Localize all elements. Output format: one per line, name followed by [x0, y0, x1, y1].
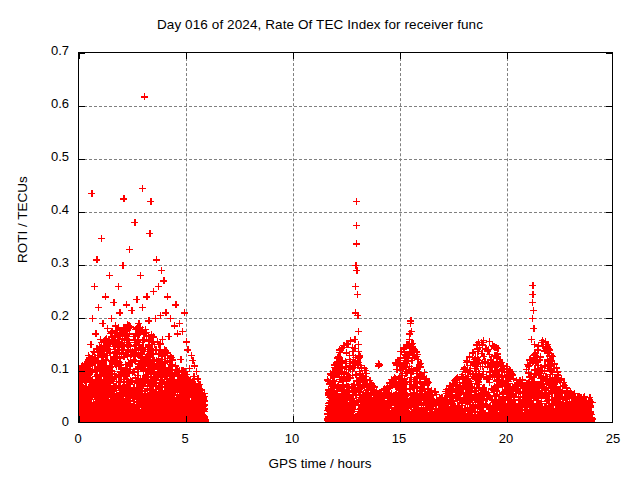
x-tick-mark — [79, 53, 80, 59]
scatter-point — [344, 383, 351, 390]
scatter-point — [100, 415, 107, 422]
scatter-point — [138, 357, 145, 364]
scatter-point — [474, 375, 481, 382]
x-tick-label: 5 — [181, 431, 188, 446]
scatter-point — [146, 230, 153, 237]
scatter-point — [118, 340, 125, 347]
scatter-point — [193, 384, 200, 391]
scatter-point — [460, 366, 467, 373]
scatter-point — [166, 386, 173, 393]
scatter-point — [100, 388, 107, 395]
scatter-point — [406, 336, 413, 343]
scatter-point — [179, 328, 186, 335]
y-tick-mark — [79, 371, 85, 372]
scatter-point — [349, 419, 356, 424]
scatter-point — [375, 360, 382, 367]
scatter-point — [510, 392, 517, 399]
scatter-point — [118, 350, 125, 357]
y-axis-label: ROTI / TECUs — [15, 150, 30, 290]
scatter-point — [184, 375, 191, 382]
scatter-point — [491, 402, 498, 409]
plot-area — [78, 52, 613, 423]
scatter-point — [374, 395, 381, 402]
scatter-point — [151, 418, 158, 423]
scatter-point — [160, 277, 167, 284]
scatter-point — [92, 420, 99, 423]
scatter-point — [335, 415, 342, 422]
scatter-point — [472, 396, 479, 403]
scatter-point — [330, 377, 337, 384]
scatter-point — [115, 283, 122, 290]
y-tick-mark — [606, 159, 612, 160]
scatter-point — [130, 392, 137, 399]
scatter-point — [486, 338, 493, 345]
scatter-point — [476, 418, 483, 423]
scatter-point — [131, 339, 138, 346]
scatter-point — [163, 349, 170, 356]
scatter-point — [365, 404, 372, 411]
y-tick-label: 0 — [0, 414, 69, 429]
scatter-point — [542, 415, 549, 422]
scatter-point — [186, 384, 193, 391]
scatter-point — [458, 399, 465, 406]
scatter-point — [108, 377, 115, 384]
scatter-point — [563, 401, 570, 408]
scatter-point — [385, 405, 392, 412]
scatter-point — [137, 324, 144, 331]
scatter-point — [396, 387, 403, 394]
scatter-point — [155, 369, 162, 376]
scatter-point — [139, 185, 146, 192]
scatter-point — [530, 325, 537, 332]
gridline-horizontal — [79, 106, 612, 107]
scatter-point — [145, 378, 152, 385]
scatter-point — [571, 399, 578, 406]
scatter-point — [146, 342, 153, 349]
scatter-point — [388, 393, 395, 400]
scatter-point — [352, 401, 359, 408]
scatter-point — [548, 380, 555, 387]
scatter-point — [538, 398, 545, 405]
scatter-point — [165, 333, 172, 340]
scatter-point — [354, 291, 361, 298]
scatter-point — [442, 398, 449, 405]
scatter-point — [110, 387, 117, 394]
scatter-point — [528, 406, 535, 413]
scatter-point — [453, 418, 460, 424]
x-tick-mark — [507, 53, 508, 59]
y-tick-mark — [79, 159, 85, 160]
scatter-point — [463, 357, 470, 364]
scatter-point — [529, 291, 536, 298]
scatter-point — [371, 419, 378, 423]
y-tick-label: 0.2 — [0, 308, 69, 323]
scatter-point — [89, 315, 96, 322]
scatter-point — [340, 344, 347, 351]
scatter-point — [453, 375, 460, 382]
scatter-point — [120, 324, 127, 331]
scatter-point — [128, 307, 135, 314]
y-tick-mark — [79, 106, 85, 107]
scatter-point — [100, 344, 107, 351]
scatter-point — [102, 293, 109, 300]
gridline-vertical — [293, 53, 294, 422]
y-tick-mark — [79, 318, 85, 319]
y-tick-label: 0.6 — [0, 96, 69, 111]
scatter-point — [354, 312, 361, 319]
scatter-point — [373, 405, 380, 412]
scatter-point — [353, 198, 360, 205]
scatter-point — [529, 282, 536, 289]
scatter-point — [517, 420, 524, 423]
scatter-point — [172, 301, 179, 308]
scatter-point — [410, 347, 417, 354]
scatter-point — [148, 331, 155, 338]
x-tick-mark — [79, 416, 80, 422]
scatter-point — [168, 402, 175, 409]
scatter-point — [177, 402, 184, 409]
scatter-point — [137, 272, 144, 279]
scatter-point — [535, 418, 542, 424]
scatter-point — [451, 403, 458, 410]
scatter-point — [541, 347, 548, 354]
gridline-horizontal — [79, 212, 612, 213]
scatter-point — [539, 380, 546, 387]
scatter-point — [147, 198, 154, 205]
y-tick-label: 0.7 — [0, 43, 69, 58]
scatter-point — [153, 256, 160, 263]
x-tick-label: 25 — [606, 431, 620, 446]
scatter-point — [407, 378, 414, 385]
x-tick-mark — [293, 416, 294, 422]
scatter-point — [355, 381, 362, 388]
scatter-point — [441, 417, 448, 423]
scatter-point — [183, 338, 190, 345]
y-tick-label: 0.4 — [0, 202, 69, 217]
scatter-point — [363, 398, 370, 405]
scatter-point — [106, 272, 113, 279]
scatter-point — [514, 381, 521, 388]
scatter-point — [119, 262, 126, 269]
x-tick-mark — [186, 416, 187, 422]
scatter-point — [148, 362, 155, 369]
scatter-point — [471, 358, 478, 365]
x-tick-mark — [507, 416, 508, 422]
scatter-point — [371, 383, 378, 390]
y-tick-mark — [606, 53, 612, 54]
y-tick-mark — [606, 212, 612, 213]
scatter-point — [131, 219, 138, 226]
scatter-point — [411, 420, 418, 423]
scatter-point — [171, 371, 178, 378]
scatter-point — [88, 190, 95, 197]
scatter-point — [503, 372, 510, 379]
scatter-point — [524, 396, 531, 403]
y-tick-mark — [606, 265, 612, 266]
scatter-point — [413, 364, 420, 371]
scatter-point — [352, 283, 359, 290]
scatter-point — [107, 396, 114, 403]
scatter-point — [455, 391, 462, 398]
scatter-point — [78, 374, 85, 381]
scatter-point — [120, 195, 127, 202]
scatter-point — [503, 363, 510, 370]
chart-title: Day 016 of 2024, Rate Of TEC Index for r… — [0, 17, 640, 32]
scatter-point — [157, 376, 164, 383]
scatter-point — [342, 358, 349, 365]
scatter-point — [530, 307, 537, 314]
scatter-point — [536, 388, 543, 395]
scatter-point — [427, 396, 434, 403]
scatter-point — [124, 399, 131, 406]
y-tick-mark — [79, 265, 85, 266]
scatter-point — [162, 369, 169, 376]
scatter-point — [568, 420, 575, 423]
scatter-point — [399, 365, 406, 372]
x-tick-label: 10 — [285, 431, 299, 446]
scatter-point — [484, 395, 491, 402]
scatter-point — [407, 396, 414, 403]
scatter-point — [139, 304, 146, 311]
scatter-point — [469, 349, 476, 356]
scatter-point — [530, 352, 537, 359]
scatter-point — [475, 368, 482, 375]
scatter-point — [160, 406, 167, 413]
scatter-point — [188, 393, 195, 400]
x-tick-label: 15 — [392, 431, 406, 446]
scatter-point — [126, 246, 133, 253]
scatter-point — [366, 377, 373, 384]
scatter-point — [335, 363, 342, 370]
scatter-point — [421, 419, 428, 423]
y-tick-mark — [79, 212, 85, 213]
scatter-point — [92, 358, 99, 365]
scatter-point — [197, 418, 204, 423]
scatter-point — [499, 418, 506, 423]
scatter-point — [493, 382, 500, 389]
scatter-point — [112, 416, 119, 423]
scatter-point — [141, 93, 148, 100]
scatter-point — [158, 267, 165, 274]
scatter-point — [140, 367, 147, 374]
scatter-point — [355, 387, 362, 394]
scatter-point — [546, 361, 553, 368]
scatter-point — [492, 416, 499, 423]
scatter-point — [492, 393, 499, 400]
scatter-point — [485, 346, 492, 353]
scatter-point — [351, 345, 358, 352]
scatter-point — [176, 320, 183, 327]
y-tick-label: 0.5 — [0, 149, 69, 164]
scatter-point — [107, 363, 114, 370]
scatter-point — [133, 402, 140, 409]
scatter-point — [467, 385, 474, 392]
scatter-point — [95, 304, 102, 311]
y-tick-mark — [606, 318, 612, 319]
y-tick-mark — [606, 106, 612, 107]
scatter-point — [409, 384, 416, 391]
x-tick-label: 0 — [74, 431, 81, 446]
scatter-point — [328, 417, 335, 423]
scatter-point — [164, 293, 171, 300]
x-tick-label: 20 — [499, 431, 513, 446]
scatter-point — [480, 353, 487, 360]
scatter-point — [340, 398, 347, 405]
scatter-point — [407, 317, 414, 324]
scatter-point — [532, 359, 539, 366]
scatter-point — [353, 240, 360, 247]
x-tick-mark — [400, 416, 401, 422]
scatter-point — [529, 299, 536, 306]
scatter-point — [356, 352, 363, 359]
scatter-point — [163, 392, 170, 399]
scatter-point — [133, 296, 140, 303]
scatter-point — [408, 328, 415, 335]
scatter-point — [100, 369, 107, 376]
x-axis-label: GPS time / hours — [0, 456, 640, 471]
scatter-point — [109, 339, 116, 346]
scatter-point — [142, 420, 149, 423]
scatter-point — [528, 376, 535, 383]
y-tick-label: 0.1 — [0, 361, 69, 376]
scatter-point — [480, 388, 487, 395]
scatter-point — [384, 414, 391, 421]
scatter-point — [400, 403, 407, 410]
scatter-point — [110, 299, 117, 306]
scatter-point — [108, 315, 115, 322]
scatter-point — [196, 396, 203, 403]
scatter-point — [548, 401, 555, 408]
y-tick-mark — [606, 371, 612, 372]
y-tick-label: 0.3 — [0, 255, 69, 270]
scatter-point — [523, 366, 530, 373]
scatter-point — [585, 417, 592, 423]
scatter-point — [89, 389, 96, 396]
scatter-point — [383, 385, 390, 392]
x-tick-mark — [293, 53, 294, 59]
scatter-point — [133, 420, 140, 423]
scatter-point — [391, 419, 398, 423]
scatter-point — [98, 235, 105, 242]
scatter-point — [424, 385, 431, 392]
scatter-point — [431, 417, 438, 423]
scatter-point — [79, 384, 86, 391]
scatter-point — [171, 418, 178, 423]
x-tick-mark — [186, 53, 187, 59]
scatter-point — [544, 341, 551, 348]
scatter-point — [403, 417, 410, 423]
scatter-point — [408, 357, 415, 364]
scatter-point — [485, 376, 492, 383]
scatter-point — [118, 376, 125, 383]
scatter-point — [353, 267, 360, 274]
scatter-point — [127, 377, 134, 384]
scatter-point — [414, 405, 421, 412]
x-tick-mark — [400, 53, 401, 59]
scatter-point — [181, 309, 188, 316]
scatter-point — [533, 370, 540, 377]
scatter-point — [529, 315, 536, 322]
gridline-horizontal — [79, 159, 612, 160]
scatter-point — [353, 222, 360, 229]
scatter-point — [493, 367, 500, 374]
scatter-point — [476, 341, 483, 348]
scatter-point — [463, 420, 470, 423]
scatter-point — [91, 283, 98, 290]
scatter-point — [137, 378, 144, 385]
scatter-point — [123, 367, 130, 374]
scatter-point — [581, 397, 588, 404]
scatter-point — [102, 379, 109, 386]
scatter-point — [167, 315, 174, 322]
scatter-point — [93, 256, 100, 263]
scatter-point — [338, 387, 345, 394]
roti-scatter-figure: Day 016 of 2024, Rate Of TEC Index for r… — [0, 0, 640, 480]
scatter-point — [193, 368, 200, 375]
scatter-point — [551, 420, 558, 423]
scatter-point — [124, 353, 131, 360]
scatter-point — [156, 347, 163, 354]
scatter-point — [144, 400, 151, 407]
scatter-point — [107, 330, 114, 337]
scatter-point — [116, 309, 123, 316]
scatter-point — [94, 398, 101, 405]
scatter-point — [355, 328, 362, 335]
